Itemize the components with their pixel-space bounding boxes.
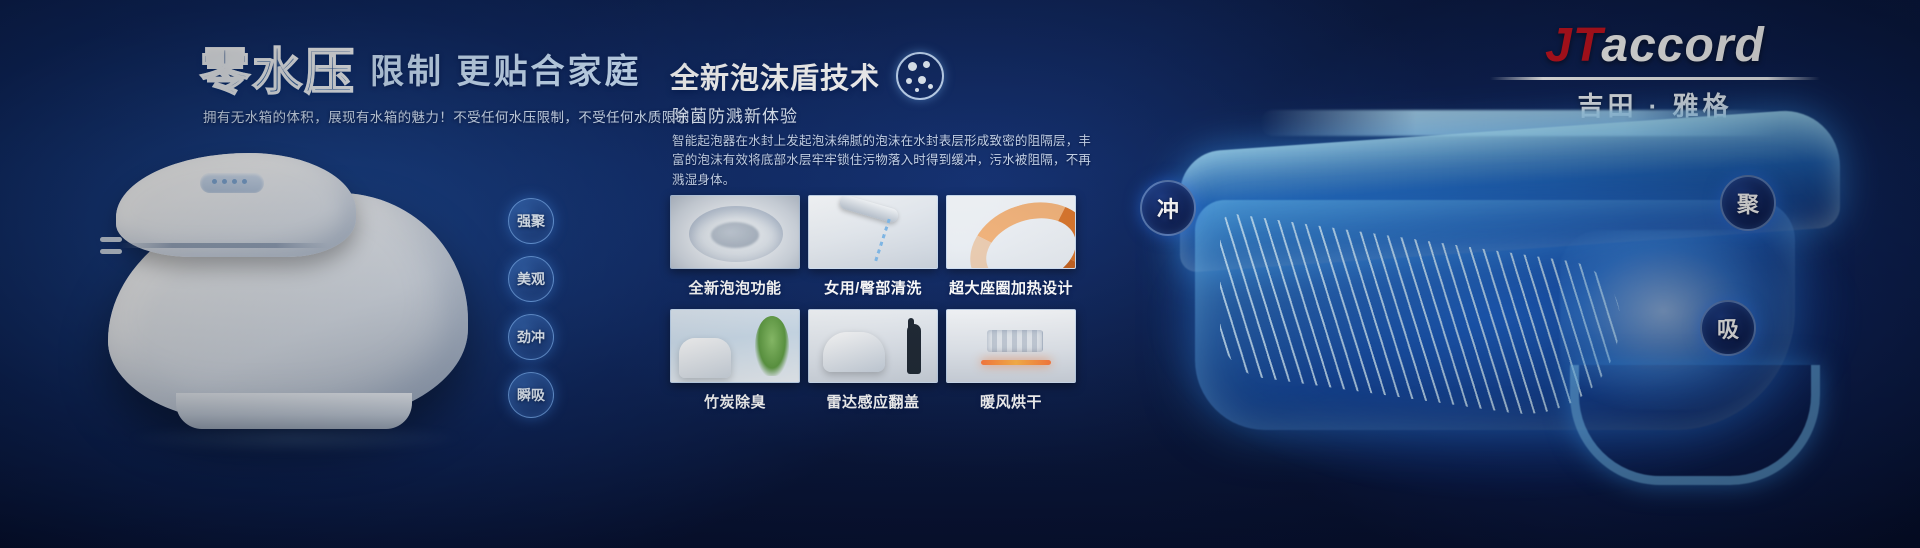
- feature-caption-1: 全新泡泡功能: [670, 277, 800, 298]
- left-panel: 零水压限制 更贴合家庭 拥有无水箱的体积，展现有水箱的魅力！不受任何水压限制，不…: [0, 0, 640, 548]
- feature-thumbnail-5: [808, 309, 938, 383]
- feature-thumbnail-4: [670, 309, 800, 383]
- left-badge-1[interactable]: 强聚: [508, 198, 554, 244]
- middle-title: 全新泡沫盾技术: [670, 55, 880, 97]
- promo-banner: 零水压限制 更贴合家庭 拥有无水箱的体积，展现有水箱的魅力！不受任何水压限制，不…: [0, 0, 1920, 548]
- toilet-lid-shape: [116, 153, 356, 257]
- feature-thumbnail-1: [670, 195, 800, 269]
- feature-cell-1[interactable]: 全新泡泡功能: [670, 195, 800, 299]
- right-badge-2[interactable]: 聚: [1720, 175, 1776, 231]
- headline-primary-text: 零水压: [200, 32, 356, 104]
- middle-title-row: 全新泡沫盾技术: [670, 52, 944, 100]
- brand-logo-jt: JT: [1545, 19, 1601, 72]
- bubble-shield-icon: [896, 52, 944, 100]
- feature-thumbnail-6: [946, 309, 1076, 383]
- feature-caption-4: 竹炭除臭: [670, 391, 800, 412]
- brand-logo-divider: [1490, 77, 1820, 80]
- right-panel: JTaccord 吉田 · 雅格 冲 聚 吸: [1120, 0, 1920, 548]
- brand-logo-accord: accord: [1601, 19, 1764, 72]
- xray-siphon-trap: [1570, 365, 1820, 485]
- feature-cell-3[interactable]: 超大座圈加热设计: [946, 195, 1076, 299]
- brand-logo[interactable]: JTaccord 吉田 · 雅格: [1490, 22, 1820, 123]
- feature-cell-4[interactable]: 竹炭除臭: [670, 309, 800, 413]
- feature-caption-2: 女用/臀部清洗: [808, 277, 938, 298]
- middle-subtitle: 除菌防溅新体验: [672, 102, 798, 127]
- feature-cell-2[interactable]: 女用/臀部清洗: [808, 195, 938, 299]
- middle-panel: 全新泡沫盾技术 除菌防溅新体验 智能起泡器在水封上发起泡沫绵腻的泡沫在水封表层形…: [660, 0, 1110, 548]
- feature-thumbnail-2: [808, 195, 938, 269]
- left-badge-3[interactable]: 劲冲: [508, 314, 554, 360]
- toilet-seam-line: [120, 243, 328, 248]
- right-badge-1[interactable]: 冲: [1140, 180, 1196, 236]
- left-badge-2[interactable]: 美观: [508, 256, 554, 302]
- feature-caption-5: 雷达感应翻盖: [808, 391, 938, 412]
- feature-caption-6: 暖风烘干: [946, 391, 1076, 412]
- right-badge-3[interactable]: 吸: [1700, 300, 1756, 356]
- feature-cell-6[interactable]: 暖风烘干: [946, 309, 1076, 413]
- left-badge-4[interactable]: 瞬吸: [508, 372, 554, 418]
- feature-thumbnail-3: [946, 195, 1076, 269]
- feature-caption-3: 超大座圈加热设计: [946, 277, 1076, 298]
- feature-grid: 全新泡泡功能 女用/臀部清洗 超大座圈加热设计 竹炭除臭 雷达感应翻盖 暖风烘干: [670, 195, 1076, 413]
- headline-secondary-text: 限制 更贴合家庭: [370, 44, 641, 93]
- brand-logo-latin: JTaccord: [1490, 22, 1820, 70]
- toilet-base-shape: [176, 393, 412, 429]
- left-headline: 零水压限制 更贴合家庭: [200, 32, 641, 104]
- left-feature-badges: 强聚 美观 劲冲 瞬吸: [508, 198, 554, 418]
- toilet-indicator-dots: [212, 179, 247, 184]
- middle-paragraph: 智能起泡器在水封上发起泡沫绵腻的泡沫在水封表层形成致密的阻隔层，丰富的泡沫有效将…: [672, 132, 1102, 190]
- left-description: 拥有无水箱的体积，展现有水箱的魅力！不受任何水压限制，不受任何水质限制！: [203, 106, 703, 126]
- product-toilet-image: [80, 135, 480, 435]
- toilet-side-buttons: [100, 237, 122, 242]
- toilet-xray-image: [1140, 110, 1900, 510]
- feature-cell-5[interactable]: 雷达感应翻盖: [808, 309, 938, 413]
